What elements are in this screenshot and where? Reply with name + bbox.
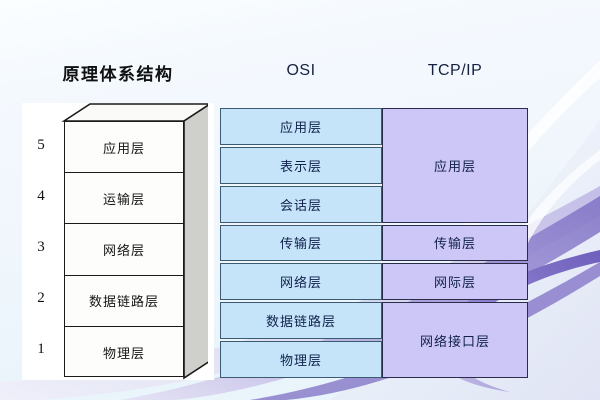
principle-layer-label: 网络层 bbox=[103, 240, 145, 259]
osi-column-title: OSI bbox=[220, 62, 382, 80]
osi-layer-label: 会话层 bbox=[280, 195, 322, 214]
tcpip-layer-cell: 网际层 bbox=[382, 263, 528, 300]
isometric-box: 应用层运输层网络层数据链路层物理层 bbox=[60, 103, 208, 380]
tcpip-column-title: TCP/IP bbox=[382, 62, 528, 80]
principle-layer-label: 应用层 bbox=[103, 138, 145, 157]
principle-layer-label: 物理层 bbox=[103, 343, 145, 362]
principle-layer-row: 物理层 bbox=[65, 327, 183, 378]
osi-layer-cell: 传输层 bbox=[220, 225, 382, 262]
slide-canvas: 原理体系结构 OSI TCP/IP 54321 应用层运输层网络层数据链路层物理… bbox=[0, 0, 600, 400]
principle-layer-number: 2 bbox=[22, 290, 60, 307]
principle-layer-number: 5 bbox=[22, 137, 60, 154]
tcpip-layer-label: 网络接口层 bbox=[420, 331, 490, 350]
principle-layer-row: 网络层 bbox=[65, 224, 183, 275]
principle-layer-label: 运输层 bbox=[103, 189, 145, 208]
osi-layer-cell: 物理层 bbox=[220, 341, 382, 378]
tcpip-layer-cell: 传输层 bbox=[382, 225, 528, 262]
principle-layer-row: 应用层 bbox=[65, 122, 183, 173]
tcpip-layer-label: 网际层 bbox=[434, 272, 476, 291]
principle-layer-row: 运输层 bbox=[65, 173, 183, 224]
osi-column: 应用层表示层会话层传输层网络层数据链路层物理层 bbox=[220, 108, 382, 380]
osi-layer-label: 物理层 bbox=[280, 350, 322, 369]
principle-layer-row: 数据链路层 bbox=[65, 276, 183, 327]
osi-layer-cell: 表示层 bbox=[220, 147, 382, 184]
osi-layer-cell: 网络层 bbox=[220, 263, 382, 300]
osi-layer-cell: 会话层 bbox=[220, 186, 382, 223]
principle-layer-number: 4 bbox=[22, 188, 60, 205]
tcpip-column: 应用层传输层网际层网络接口层 bbox=[382, 108, 528, 380]
tcpip-layer-label: 传输层 bbox=[434, 233, 476, 252]
osi-layer-label: 数据链路层 bbox=[266, 311, 336, 330]
principle-column-title: 原理体系结构 bbox=[22, 60, 214, 85]
principle-layer-number: 1 bbox=[22, 341, 60, 358]
layer-number-column: 54321 bbox=[22, 103, 60, 380]
tcpip-layer-cell: 应用层 bbox=[382, 108, 528, 223]
osi-layer-label: 表示层 bbox=[280, 156, 322, 175]
osi-layer-cell: 应用层 bbox=[220, 108, 382, 145]
osi-layer-label: 应用层 bbox=[280, 117, 322, 136]
layer-stack-front-face: 应用层运输层网络层数据链路层物理层 bbox=[64, 121, 184, 377]
tcpip-layer-label: 应用层 bbox=[434, 156, 476, 175]
principle-stack: 54321 应用层运输层网络层数据链路层物理层 bbox=[22, 103, 214, 380]
osi-layer-cell: 数据链路层 bbox=[220, 302, 382, 339]
tcpip-layer-cell: 网络接口层 bbox=[382, 302, 528, 378]
osi-layer-label: 传输层 bbox=[280, 233, 322, 252]
principle-layer-label: 数据链路层 bbox=[89, 291, 159, 310]
osi-layer-label: 网络层 bbox=[280, 272, 322, 291]
principle-layer-number: 3 bbox=[22, 239, 60, 256]
